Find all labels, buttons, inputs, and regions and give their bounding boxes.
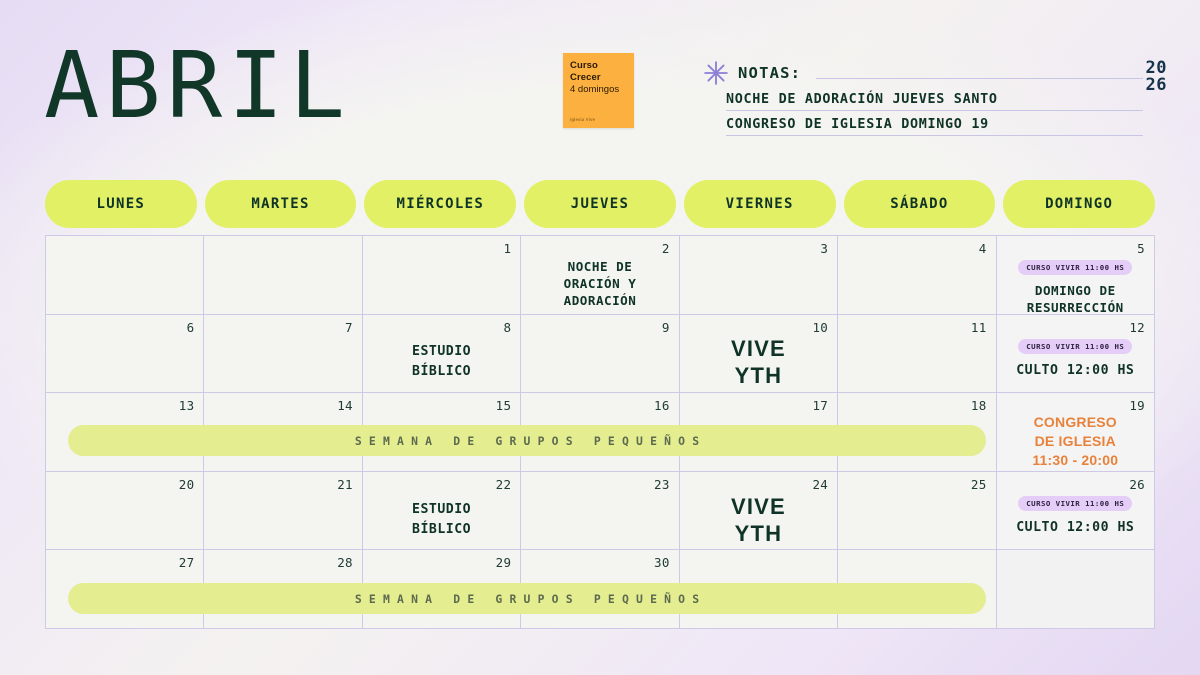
calendar-cell[interactable]: 8ESTUDIOBÍBLICO: [363, 315, 521, 394]
sparkle-star-icon: [703, 60, 729, 86]
calendar-cell[interactable]: 6: [46, 315, 204, 394]
weekday-label: SÁBADO: [890, 196, 948, 212]
weekday-pill-jueves[interactable]: JUEVES: [524, 180, 676, 228]
status-badge[interactable]: CURSO VIVIR 11:00 HS: [1018, 496, 1132, 511]
event-label[interactable]: CULTO 12:00 HS: [1016, 361, 1134, 381]
event-line: YTH: [731, 362, 786, 389]
cell-content: VIVEYTH: [680, 339, 837, 387]
calendar-cell[interactable]: 25: [838, 472, 996, 551]
status-badge[interactable]: CURSO VIVIR 11:00 HS: [1018, 260, 1132, 275]
day-number: 5: [1137, 241, 1145, 256]
event-line: VIVE: [731, 493, 786, 520]
day-number: 7: [345, 320, 353, 335]
note-underline-1: [726, 110, 1143, 111]
day-number: 14: [337, 398, 353, 413]
note-item-1: NOCHE DE ADORACIÓN JUEVES SANTO: [703, 92, 1143, 107]
day-number: 2: [662, 241, 670, 256]
event-banner-semana-grupos-2[interactable]: SEMANA DE GRUPOS PEQUEÑOS: [68, 583, 986, 614]
day-number: 19: [1129, 398, 1145, 413]
calendar-cell[interactable]: 10VIVEYTH: [680, 315, 838, 394]
calendar-cell[interactable]: [204, 236, 362, 315]
calendar-cell[interactable]: 22ESTUDIOBÍBLICO: [363, 472, 521, 551]
weekday-label: MIÉRCOLES: [397, 196, 485, 212]
calendar-cell[interactable]: 24VIVEYTH: [680, 472, 838, 551]
note-row: NOCHE DE ADORACIÓN JUEVES SANTO: [703, 92, 1143, 111]
day-number: 12: [1129, 320, 1145, 335]
calendar-cell[interactable]: 19CONGRESODE IGLESIA11:30 - 20:00: [997, 393, 1155, 472]
calendar-cell[interactable]: 21: [204, 472, 362, 551]
event-label[interactable]: VIVEYTH: [731, 493, 786, 547]
weekday-label: VIERNES: [726, 196, 794, 212]
curso-card-line1: Curso: [570, 60, 627, 72]
calendar-cell[interactable]: 26CURSO VIVIR 11:00 HSCULTO 12:00 HS: [997, 472, 1155, 551]
day-number: 4: [979, 241, 987, 256]
event-label[interactable]: CULTO 12:00 HS: [1016, 518, 1134, 538]
calendar-cell[interactable]: 3: [680, 236, 838, 315]
calendar-cell[interactable]: 9: [521, 315, 679, 394]
note-underline-2: [726, 135, 1143, 136]
day-number: 13: [179, 398, 195, 413]
day-number: 10: [812, 320, 828, 335]
weekday-pill-lunes[interactable]: LUNES: [45, 180, 197, 228]
day-number: 30: [654, 555, 670, 570]
day-number: 23: [654, 477, 670, 492]
cell-content: CURSO VIVIR 11:00 HSCULTO 12:00 HS: [997, 339, 1154, 387]
event-line: BÍBLICO: [412, 520, 471, 540]
weekday-label: LUNES: [97, 196, 146, 212]
calendar-cell[interactable]: 7: [204, 315, 362, 394]
day-number: 27: [179, 555, 195, 570]
event-line: VIVE: [731, 335, 786, 362]
curso-card-brand: Iglesia Vive: [570, 117, 595, 123]
day-number: 6: [187, 320, 195, 335]
day-number: 3: [820, 241, 828, 256]
weekday-pill-martes[interactable]: MARTES: [205, 180, 357, 228]
day-number: 17: [812, 398, 828, 413]
calendar-cell[interactable]: [997, 550, 1155, 629]
calendar-header: ABRIL Curso Crecer 4 domingos Iglesia Vi…: [0, 0, 1200, 170]
cell-content: NOCHE DEORACIÓN YADORACIÓN: [521, 260, 678, 308]
event-line: RESURRECCIÓN: [1027, 299, 1124, 315]
event-line: YTH: [731, 520, 786, 547]
day-number: 1: [503, 241, 511, 256]
day-number: 26: [1129, 477, 1145, 492]
day-number: 25: [971, 477, 987, 492]
event-line: 11:30 - 20:00: [1032, 451, 1118, 470]
notes-block: NOTAS: NOCHE DE ADORACIÓN JUEVES SANTO C…: [703, 60, 1143, 136]
weekday-pill-domingo[interactable]: DOMINGO: [1003, 180, 1155, 228]
event-label[interactable]: ESTUDIOBÍBLICO: [412, 500, 471, 540]
calendar-cell[interactable]: 11: [838, 315, 996, 394]
event-banner-semana-grupos-1[interactable]: SEMANA DE GRUPOS PEQUEÑOS: [68, 425, 986, 456]
cell-content: CURSO VIVIR 11:00 HSCULTO 12:00 HS: [997, 496, 1154, 544]
day-number: 9: [662, 320, 670, 335]
weekday-header-row: LUNESMARTESMIÉRCOLESJUEVESVIERNESSÁBADOD…: [45, 180, 1155, 228]
calendar-cell[interactable]: 5CURSO VIVIR 11:00 HSDOMINGO DERESURRECC…: [997, 236, 1155, 315]
weekday-pill-miércoles[interactable]: MIÉRCOLES: [364, 180, 516, 228]
event-label[interactable]: ESTUDIOBÍBLICO: [412, 342, 471, 382]
event-line: CULTO 12:00 HS: [1016, 361, 1134, 381]
status-badge[interactable]: CURSO VIVIR 11:00 HS: [1018, 339, 1132, 354]
day-number: 21: [337, 477, 353, 492]
calendar-cell[interactable]: 23: [521, 472, 679, 551]
day-number: 22: [496, 477, 512, 492]
calendar-cell[interactable]: 20: [46, 472, 204, 551]
event-line: ESTUDIO: [412, 342, 471, 362]
day-number: 15: [496, 398, 512, 413]
calendar-cell[interactable]: 1: [363, 236, 521, 315]
curso-card-line3: 4 domingos: [570, 84, 627, 96]
event-line: CULTO 12:00 HS: [1016, 518, 1134, 538]
day-number: 8: [503, 320, 511, 335]
calendar-cell[interactable]: 2NOCHE DEORACIÓN YADORACIÓN: [521, 236, 679, 315]
day-number: 16: [654, 398, 670, 413]
cell-content: ESTUDIOBÍBLICO: [363, 339, 520, 387]
event-line: ADORACIÓN: [564, 292, 637, 309]
page-title: ABRIL: [44, 38, 351, 134]
day-number: 18: [971, 398, 987, 413]
note-item-2: CONGRESO DE IGLESIA DOMINGO 19: [703, 117, 1143, 132]
weekday-label: JUEVES: [571, 196, 629, 212]
calendar-page: ABRIL Curso Crecer 4 domingos Iglesia Vi…: [0, 0, 1200, 675]
cell-content: ESTUDIOBÍBLICO: [363, 496, 520, 544]
note-row: CONGRESO DE IGLESIA DOMINGO 19: [703, 117, 1143, 136]
cell-content: VIVEYTH: [680, 496, 837, 544]
calendar-cell[interactable]: 4: [838, 236, 996, 315]
event-label[interactable]: DOMINGO DERESURRECCIÓN: [1027, 282, 1124, 315]
year-bottom: 26: [1146, 77, 1167, 94]
event-line: ORACIÓN Y: [564, 275, 637, 292]
weekday-pill-sábado[interactable]: SÁBADO: [844, 180, 996, 228]
year-label: 20 26: [1146, 60, 1167, 94]
day-number: 28: [337, 555, 353, 570]
curso-crecer-card[interactable]: Curso Crecer 4 domingos Iglesia Vive: [563, 53, 634, 128]
event-line: CONGRESO: [1032, 413, 1118, 432]
calendar-cell[interactable]: [46, 236, 204, 315]
event-label[interactable]: CONGRESODE IGLESIA11:30 - 20:00: [1032, 413, 1118, 470]
notes-header: NOTAS:: [703, 60, 1143, 86]
cell-content: CONGRESODE IGLESIA11:30 - 20:00: [997, 417, 1154, 465]
event-line: ESTUDIO: [412, 500, 471, 520]
curso-card-line2: Crecer: [570, 72, 627, 84]
day-number: 29: [496, 555, 512, 570]
event-line: DOMINGO DE: [1027, 282, 1124, 299]
event-label[interactable]: VIVEYTH: [731, 335, 786, 389]
event-label[interactable]: NOCHE DEORACIÓN YADORACIÓN: [564, 258, 637, 309]
event-line: BÍBLICO: [412, 362, 471, 382]
day-number: 11: [971, 320, 987, 335]
day-number: 24: [812, 477, 828, 492]
notes-title-rule: [816, 78, 1143, 79]
notes-title: NOTAS:: [738, 64, 801, 82]
cell-content: CURSO VIVIR 11:00 HSDOMINGO DERESURRECCI…: [997, 260, 1154, 308]
day-number: 20: [179, 477, 195, 492]
weekday-pill-viernes[interactable]: VIERNES: [684, 180, 836, 228]
event-line: DE IGLESIA: [1032, 432, 1118, 451]
weekday-label: DOMINGO: [1045, 196, 1113, 212]
weekday-label: MARTES: [251, 196, 309, 212]
calendar-cell[interactable]: 12CURSO VIVIR 11:00 HSCULTO 12:00 HS: [997, 315, 1155, 394]
event-line: NOCHE DE: [564, 258, 637, 275]
